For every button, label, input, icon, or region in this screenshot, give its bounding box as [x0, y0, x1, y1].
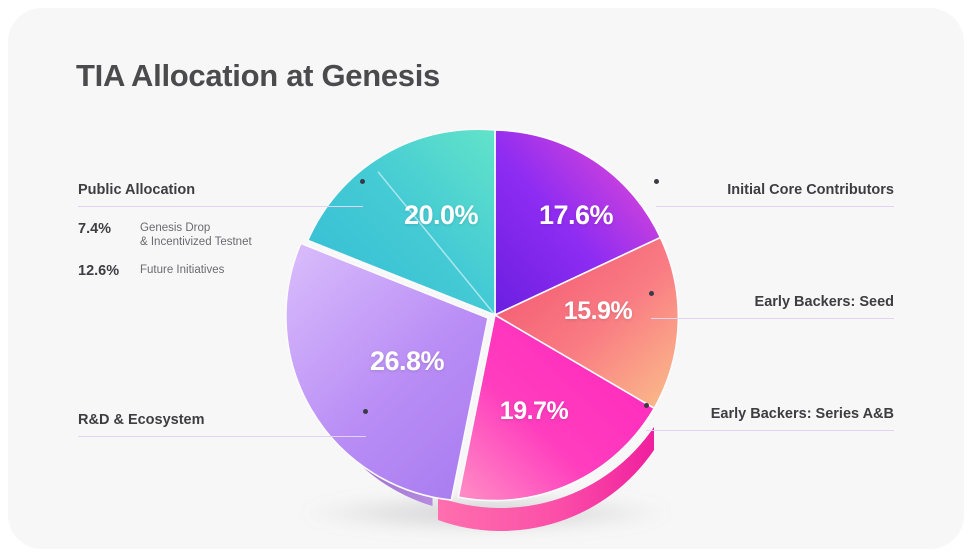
series-depth-wall: [438, 427, 654, 531]
slice-label-initial-core-contributors: 17.6%: [521, 200, 631, 231]
public-subdivider-1: [378, 172, 495, 315]
public-breakdown-row-1: 7.4% Genesis Drop & Incentivized Testnet: [78, 221, 363, 249]
legend-label-early-backers-seed: Early Backers: Seed: [651, 293, 894, 311]
pie-rim-highlight: [495, 130, 668, 251]
legend-label-rnd-ecosystem: R&D & Ecosystem: [78, 411, 366, 429]
legend-label-public-allocation: Public Allocation: [78, 181, 363, 199]
leader-line-public-allocation: [78, 206, 363, 207]
leader-dot-initial-core-contributors: [654, 179, 659, 184]
leader-dot-rnd-ecosystem: [363, 409, 368, 414]
legend-early-backers-series-ab[interactable]: Early Backers: Series A&B: [646, 405, 894, 431]
legend-public-allocation[interactable]: Public Allocation 7.4% Genesis Drop & In…: [78, 181, 363, 279]
legend-rnd-ecosystem[interactable]: R&D & Ecosystem: [78, 411, 366, 437]
rnd-depth-wall: [301, 305, 433, 507]
legend-label-early-backers-series-ab: Early Backers: Series A&B: [646, 405, 894, 423]
leader-line-early-backers-series-ab: [646, 430, 894, 431]
leader-line-early-backers-seed: [651, 318, 894, 319]
slice-label-public-allocation: 20.0%: [386, 200, 496, 231]
public-breakdown-row-2: 12.6% Future Initiatives: [78, 263, 363, 279]
leader-line-rnd-ecosystem: [78, 436, 366, 437]
slice-label-rnd-ecosystem: 26.8%: [346, 346, 468, 377]
public-breakdown-pct-2: 12.6%: [78, 263, 140, 279]
leader-dot-early-backers-seed: [649, 291, 654, 296]
slice-label-early-backers-series-ab: 19.7%: [474, 397, 594, 426]
leader-dot-early-backers-series-ab: [644, 403, 649, 408]
legend-early-backers-seed[interactable]: Early Backers: Seed: [651, 293, 894, 319]
public-breakdown-name-2: Future Initiatives: [140, 263, 224, 277]
slice-label-early-backers-seed: 15.9%: [543, 297, 653, 326]
page-title: TIA Allocation at Genesis: [76, 58, 440, 94]
leader-line-initial-core-contributors: [656, 206, 894, 207]
public-breakdown-pct-1: 7.4%: [78, 221, 140, 237]
pie-shadow: [300, 493, 672, 533]
chart-card: TIA Allocation at Genesis: [8, 8, 964, 549]
leader-dot-public-allocation: [360, 179, 365, 184]
legend-initial-core-contributors[interactable]: Initial Core Contributors: [656, 181, 894, 207]
public-breakdown-name-1: Genesis Drop & Incentivized Testnet: [140, 221, 252, 249]
legend-label-initial-core-contributors: Initial Core Contributors: [656, 181, 894, 199]
